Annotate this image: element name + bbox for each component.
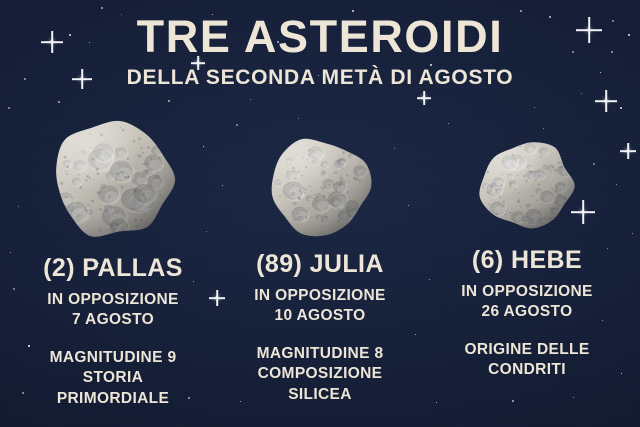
- asteroid-columns: (2) PALLAS IN OPPOSIZIONE 7 AGOSTO MAGNI…: [0, 104, 640, 409]
- asteroid-icon: [43, 112, 183, 246]
- asteroid-illustration-wrap: [14, 104, 212, 246]
- poster-canvas: TRE ASTEROIDI DELLA SECONDA METÀ DI AGOS…: [0, 0, 640, 427]
- asteroid-name: (6) HEBE: [428, 246, 626, 275]
- asteroid-icon: [262, 128, 378, 242]
- fact-line: SILICEA: [221, 385, 419, 405]
- fact-line: MAGNITUDINE 8: [221, 344, 419, 364]
- opposition-label: IN OPPOSIZIONE: [14, 290, 212, 310]
- asteroid-opposition: IN OPPOSIZIONE 26 AGOSTO: [428, 282, 626, 323]
- opposition-label: IN OPPOSIZIONE: [221, 286, 419, 306]
- fact-line: ORIGINE DELLE: [428, 340, 626, 360]
- asteroid-opposition: IN OPPOSIZIONE 10 AGOSTO: [221, 286, 419, 327]
- star-dot: [168, 100, 170, 102]
- asteroid-icon: [473, 132, 581, 238]
- asteroid-facts: ORIGINE DELLE CONDRITI: [428, 340, 626, 381]
- opposition-date: 7 AGOSTO: [14, 310, 212, 330]
- fact-line: MAGNITUDINE 9: [14, 348, 212, 368]
- asteroid-name: (89) JULIA: [221, 250, 419, 279]
- opposition-label: IN OPPOSIZIONE: [428, 282, 626, 302]
- page-title: TRE ASTEROIDI: [0, 14, 640, 60]
- opposition-date: 26 AGOSTO: [428, 302, 626, 322]
- opposition-date: 10 AGOSTO: [221, 306, 419, 326]
- asteroid-illustration-wrap: [428, 104, 626, 238]
- asteroid-card-julia: (89) JULIA IN OPPOSIZIONE 10 AGOSTO MAGN…: [221, 104, 419, 409]
- asteroid-illustration-wrap: [221, 104, 419, 242]
- sparkle-star-icon: [417, 91, 431, 105]
- fact-line: PRIMORDIALE: [14, 389, 212, 409]
- star-dot: [250, 99, 251, 100]
- fact-line: CONDRITI: [428, 360, 626, 380]
- star-dot: [520, 10, 522, 12]
- asteroid-opposition: IN OPPOSIZIONE 7 AGOSTO: [14, 290, 212, 331]
- page-subtitle: DELLA SECONDA METÀ DI AGOSTO: [0, 66, 640, 90]
- asteroid-card-hebe: (6) HEBE IN OPPOSIZIONE 26 AGOSTO ORIGIN…: [428, 104, 626, 409]
- asteroid-facts: MAGNITUDINE 9 STORIA PRIMORDIALE: [14, 348, 212, 409]
- star-dot: [101, 7, 103, 9]
- poster-header: TRE ASTEROIDI DELLA SECONDA METÀ DI AGOS…: [0, 14, 640, 90]
- star-dot: [581, 93, 582, 94]
- fact-line: STORIA: [14, 368, 212, 388]
- asteroid-card-pallas: (2) PALLAS IN OPPOSIZIONE 7 AGOSTO MAGNI…: [14, 104, 212, 409]
- asteroid-name: (2) PALLAS: [14, 254, 212, 283]
- fact-line: COMPOSIZIONE: [221, 364, 419, 384]
- asteroid-facts: MAGNITUDINE 8 COMPOSIZIONE SILICEA: [221, 344, 419, 405]
- star-dot: [58, 101, 60, 103]
